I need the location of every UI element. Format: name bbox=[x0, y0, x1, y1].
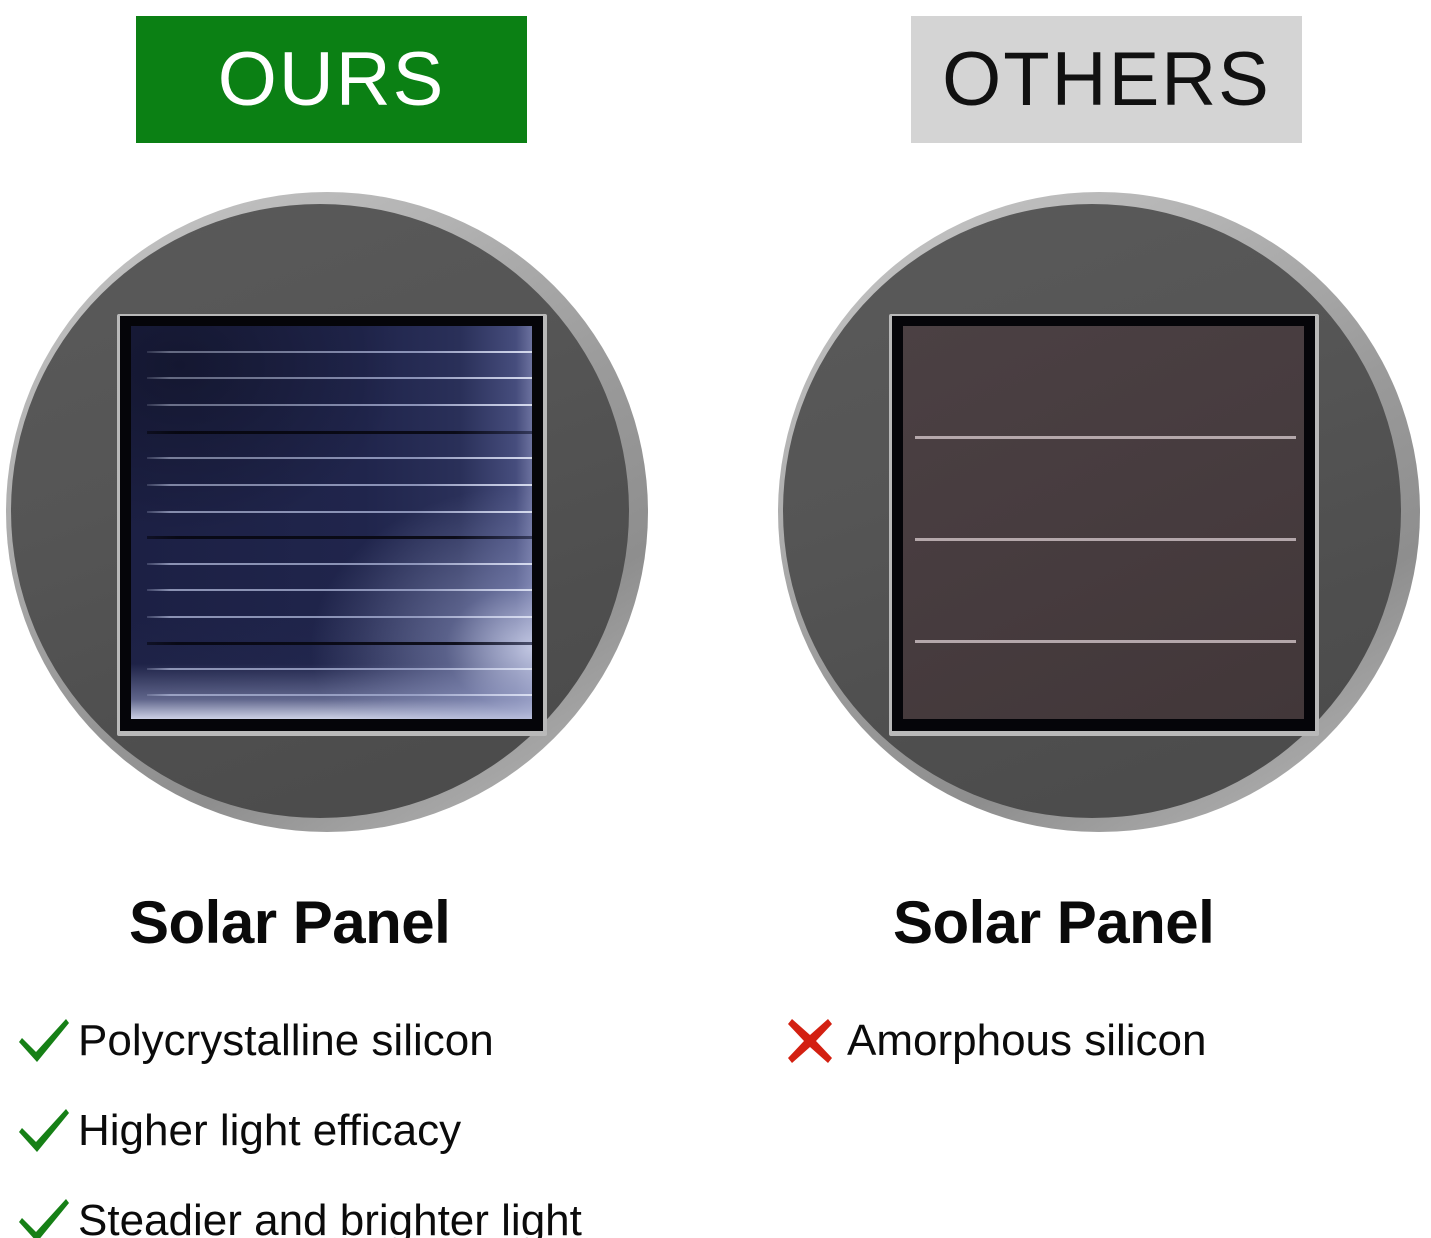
feature-label: Polycrystalline silicon bbox=[78, 1019, 494, 1063]
feature-list-ours: Polycrystalline silicon Higher light eff… bbox=[16, 996, 582, 1238]
feature-item: Polycrystalline silicon bbox=[16, 996, 582, 1086]
busbar-group-others bbox=[903, 326, 1304, 719]
busbar-line bbox=[915, 436, 1296, 439]
cross-icon bbox=[785, 1016, 847, 1066]
busbar-line bbox=[915, 640, 1296, 643]
comparison-infographic: OURS OTHERS bbox=[0, 0, 1431, 1238]
solar-light-puck-others bbox=[772, 186, 1431, 846]
feature-item: Steadier and brighter light bbox=[16, 1176, 582, 1238]
check-icon bbox=[16, 1105, 78, 1157]
check-icon bbox=[16, 1195, 78, 1238]
caption-solar-panel-others: Solar Panel bbox=[893, 893, 1214, 953]
cell-black-frame bbox=[892, 316, 1315, 731]
banner-others: OTHERS bbox=[911, 16, 1302, 143]
busbar-line bbox=[915, 538, 1296, 541]
feature-label: Higher light efficacy bbox=[78, 1109, 461, 1153]
cell-black-frame bbox=[120, 316, 543, 731]
busbar-line bbox=[147, 589, 532, 591]
caption-solar-panel-ours: Solar Panel bbox=[129, 893, 450, 953]
feature-label: Steadier and brighter light bbox=[78, 1199, 582, 1238]
busbar-line bbox=[147, 668, 532, 670]
amorphous-cell-surface bbox=[903, 326, 1304, 719]
busbar-line bbox=[147, 484, 532, 486]
busbar-line bbox=[147, 511, 532, 513]
feature-item: Higher light efficacy bbox=[16, 1086, 582, 1176]
solar-light-puck-ours bbox=[0, 186, 660, 846]
busbar-line bbox=[147, 377, 532, 379]
busbar-line bbox=[147, 694, 532, 696]
solar-cell-assembly-ours bbox=[117, 314, 547, 736]
busbar-line bbox=[147, 457, 532, 459]
check-icon bbox=[16, 1015, 78, 1067]
busbar-line bbox=[147, 351, 532, 353]
feature-item: Amorphous silicon bbox=[785, 996, 1207, 1086]
busbar-line bbox=[147, 616, 532, 618]
busbar-line-thick bbox=[147, 431, 532, 434]
feature-list-others: Amorphous silicon bbox=[785, 996, 1207, 1086]
feature-label: Amorphous silicon bbox=[847, 1019, 1207, 1063]
banner-ours: OURS bbox=[136, 16, 527, 143]
solar-cell-assembly-others bbox=[889, 314, 1319, 736]
busbar-line bbox=[147, 404, 532, 406]
busbar-line-thick bbox=[147, 642, 532, 645]
busbar-group-ours bbox=[131, 326, 532, 719]
polycrystalline-cell-surface bbox=[131, 326, 532, 719]
busbar-line bbox=[147, 563, 532, 565]
busbar-line-thick bbox=[147, 536, 532, 539]
